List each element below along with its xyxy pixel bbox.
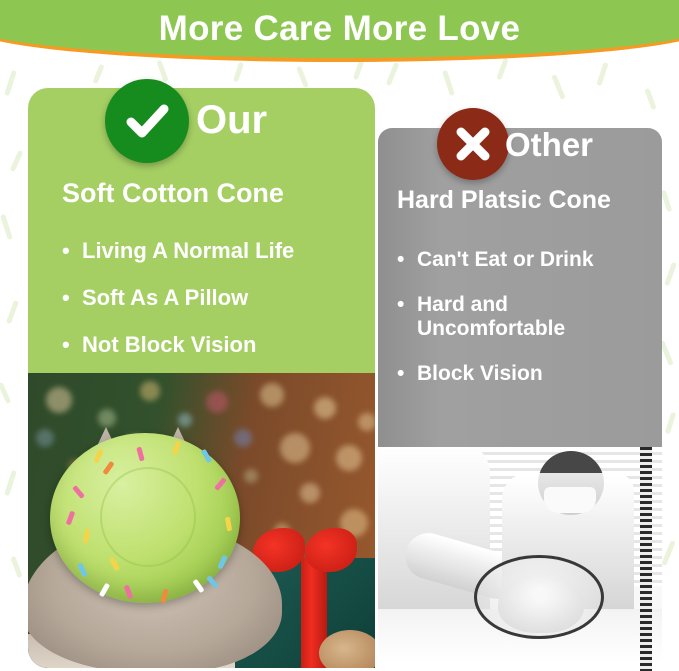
confetti-dash xyxy=(0,214,13,240)
confetti-dash xyxy=(644,88,656,110)
donut-soft-cone xyxy=(50,433,240,603)
other-product-photo xyxy=(378,447,662,671)
confetti-dash xyxy=(665,412,677,434)
infographic-root: More Care More Love Our Other Soft Cotto… xyxy=(0,0,679,671)
wall-grille xyxy=(640,447,652,671)
list-item: Soft As A Pillow xyxy=(62,285,372,311)
sprinkle xyxy=(66,511,75,526)
face-mask-icon xyxy=(544,487,596,513)
bokeh-light xyxy=(260,383,284,407)
confetti-dash xyxy=(0,382,11,404)
cone-opening xyxy=(102,469,194,565)
our-subtitle: Soft Cotton Cone xyxy=(62,178,372,209)
our-label: Our xyxy=(196,98,267,143)
bokeh-light xyxy=(234,429,252,447)
bokeh-light xyxy=(280,433,310,463)
x-circle-icon xyxy=(437,108,509,180)
confetti-dash xyxy=(4,470,17,496)
page-title: More Care More Love xyxy=(0,0,679,58)
other-label: Other xyxy=(505,126,593,164)
list-item: Not Block Vision xyxy=(62,332,372,358)
list-item: Can't Eat or Drink xyxy=(397,248,655,272)
bokeh-light xyxy=(140,381,160,401)
confetti-dash xyxy=(4,70,17,96)
confetti-dash xyxy=(551,74,565,100)
bokeh-light xyxy=(98,409,116,427)
sprinkle xyxy=(83,529,90,544)
sprinkle xyxy=(109,557,120,572)
other-drawbacks-list: Can't Eat or Drink Hard and Uncomfortabl… xyxy=(397,248,655,407)
list-item: Living A Normal Life xyxy=(62,238,372,264)
sprinkle xyxy=(77,563,87,578)
confetti-dash xyxy=(10,150,24,172)
sprinkle xyxy=(172,441,181,456)
bokeh-light xyxy=(36,429,54,447)
bokeh-light xyxy=(206,391,228,413)
sprinkle xyxy=(225,517,232,532)
confetti-dash xyxy=(442,70,455,96)
confetti-dash xyxy=(661,540,675,566)
sprinkle xyxy=(124,585,133,600)
pinecone xyxy=(319,630,375,668)
our-product-photo xyxy=(28,373,375,668)
bokeh-light xyxy=(300,483,320,503)
check-circle-icon xyxy=(105,79,189,163)
bokeh-light xyxy=(358,413,375,431)
sprinkle xyxy=(72,485,85,499)
confetti-dash xyxy=(10,556,22,578)
sprinkle xyxy=(99,583,110,598)
bokeh-light xyxy=(244,469,258,483)
list-item: Hard and Uncomfortable xyxy=(397,293,655,341)
list-item: Block Vision xyxy=(397,362,655,386)
sprinkle xyxy=(93,449,103,464)
bokeh-light xyxy=(336,445,362,471)
other-subtitle: Hard Platsic Cone xyxy=(397,186,667,215)
bokeh-light xyxy=(314,397,336,419)
sprinkle xyxy=(102,461,114,475)
sprinkle xyxy=(136,447,144,462)
our-benefits-list: Living A Normal Life Soft As A Pillow No… xyxy=(62,238,372,379)
bokeh-light xyxy=(46,387,72,413)
vet-clinic-scene xyxy=(378,447,662,671)
hard-plastic-cone xyxy=(474,555,604,639)
confetti-dash xyxy=(664,262,677,286)
sprinkle xyxy=(214,477,227,491)
bokeh-light xyxy=(178,413,192,427)
confetti-dash xyxy=(6,300,19,324)
